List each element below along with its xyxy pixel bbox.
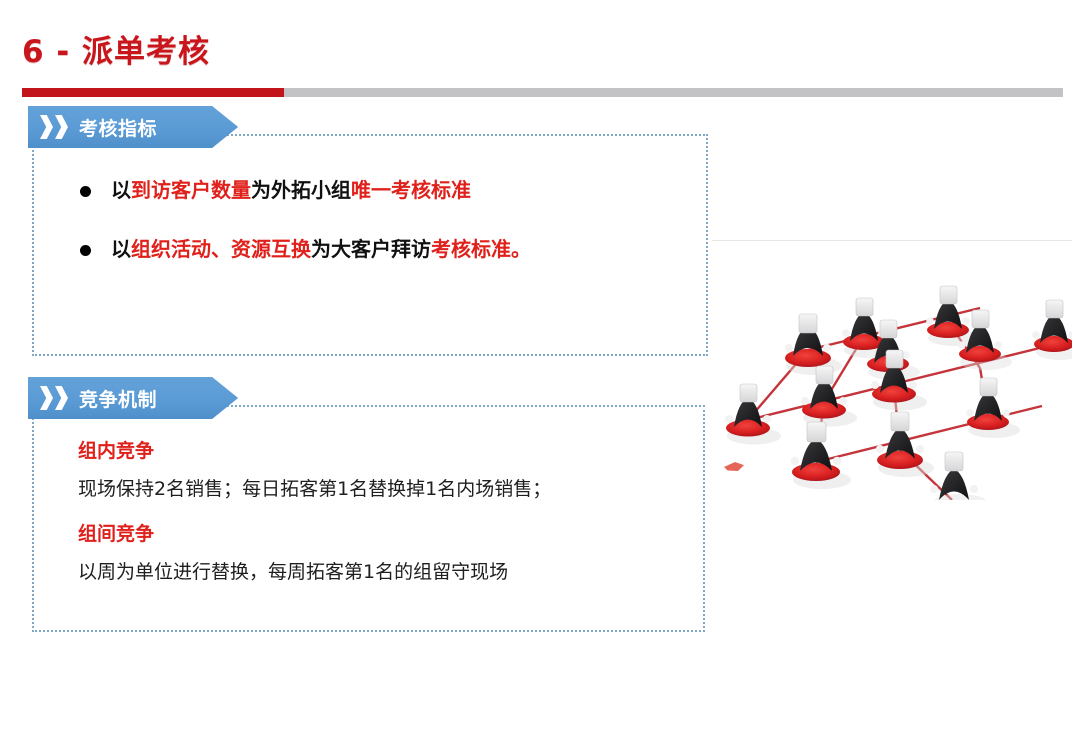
bullet-dot-icon [80, 186, 91, 197]
network-illustration-svg [712, 238, 1072, 500]
inter-group-heading: 组间竞争 [78, 519, 678, 546]
header-rule-red-segment [22, 88, 284, 97]
page-title: 6 - 派单考核 [22, 26, 210, 71]
bullet-dot-icon [80, 245, 91, 256]
chevron-right-icon [40, 115, 53, 139]
list-item: 以到访客户数量为外拓小组唯一考核标准 [80, 178, 680, 203]
kpi-bullet-1-part-4: 唯一考核标准 [351, 178, 471, 202]
inter-group-text: 以周为单位进行替换，每周拓客第1名的组留守现场 [78, 557, 678, 584]
header-rule-grey-segment [284, 88, 1063, 97]
chevron-right-icon [40, 386, 53, 410]
section-banner-kpi[interactable]: 考核指标 [28, 106, 238, 148]
competition-body: 组内竞争 现场保持2名销售；每日拓客第1名替换掉1名内场销售； 组间竞争 以周为… [78, 436, 678, 584]
header-rule [22, 88, 1063, 97]
kpi-bullet-1-part-1: 以 [111, 178, 131, 202]
kpi-bullet-2-part-3: 为大客户拜访 [311, 237, 431, 261]
section-banner-competition[interactable]: 竞争机制 [28, 377, 238, 419]
section-banner-competition-label: 竞争机制 [79, 385, 157, 412]
network-nodes [725, 286, 1072, 500]
kpi-bullet-1-part-2: 到访客户数量 [131, 178, 251, 202]
network-illustration [712, 238, 1072, 500]
section-banner-kpi-label: 考核指标 [79, 114, 157, 141]
kpi-bullet-list: 以到访客户数量为外拓小组唯一考核标准 以组织活动、资源互换为大客户拜访考核标准。 [80, 178, 680, 296]
intra-group-text: 现场保持2名销售；每日拓客第1名替换掉1名内场销售； [78, 474, 678, 501]
kpi-bullet-2-text: 以组织活动、资源互换为大客户拜访考核标准。 [111, 237, 531, 262]
kpi-bullet-1-text: 以到访客户数量为外拓小组唯一考核标准 [111, 178, 471, 203]
chevron-right-icon [55, 386, 68, 410]
kpi-bullet-2-part-4: 考核标准。 [431, 237, 531, 261]
intra-group-heading: 组内竞争 [78, 436, 678, 463]
chevron-right-icon [55, 115, 68, 139]
kpi-bullet-1-part-3: 为外拓小组 [251, 178, 351, 202]
kpi-bullet-2-part-1: 以 [111, 237, 131, 261]
kpi-bullet-2-part-2: 组织活动、资源互换 [131, 237, 311, 261]
list-item: 以组织活动、资源互换为大客户拜访考核标准。 [80, 237, 680, 262]
